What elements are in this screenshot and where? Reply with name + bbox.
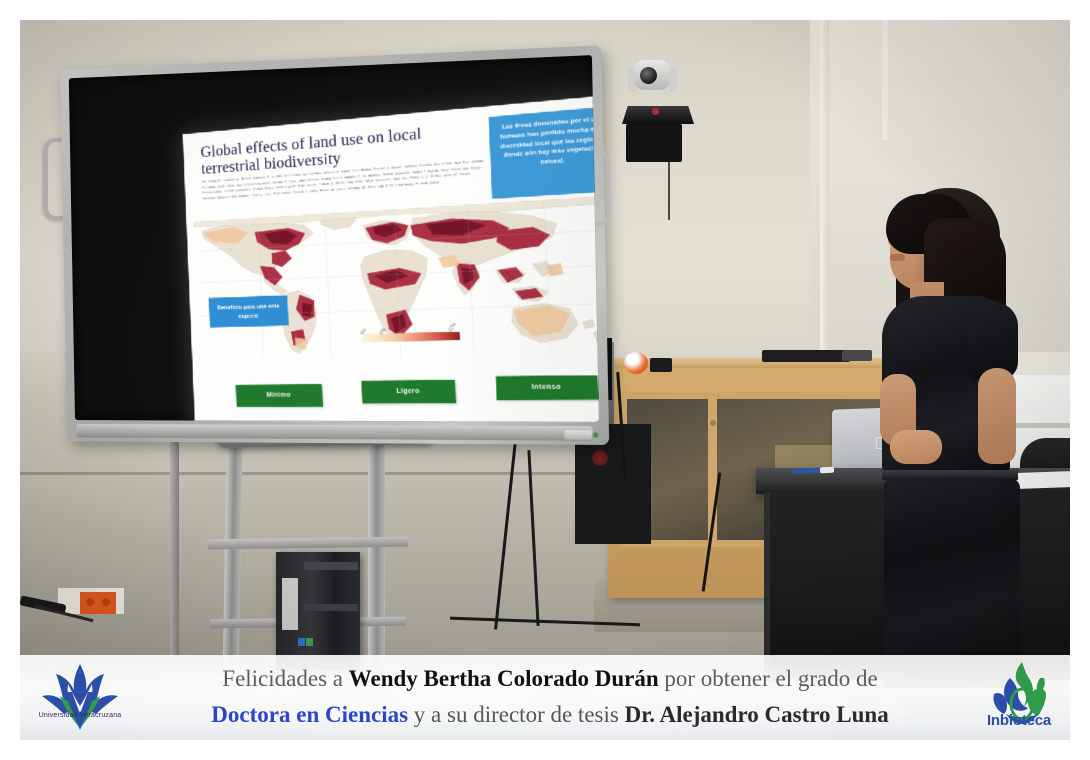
outlet-socket-left[interactable]: [86, 598, 94, 606]
pc-power-led: [298, 638, 305, 646]
pc-spec-label: [282, 578, 298, 630]
outlet-socket-right[interactable]: [102, 598, 110, 606]
desktop-pc-tower[interactable]: [276, 552, 360, 670]
wall-corner-highlight: [882, 20, 888, 140]
power-adapter: [650, 358, 672, 372]
marker-pen-cap: [820, 467, 834, 474]
legend-button-ligero[interactable]: Ligero: [361, 380, 456, 404]
slide-benefit-box: Beneficio para una sola especie: [209, 295, 289, 328]
pc-front-panel: [304, 604, 358, 611]
inbioteca-caption: Inbioteca: [966, 712, 1072, 729]
presenter: [868, 178, 1068, 678]
slide-callout-box: Las áreas dominadas por el ser humano ha…: [488, 106, 599, 199]
decorative-ball: [624, 352, 648, 374]
presentation-slide[interactable]: Global effects of land use on local terr…: [183, 93, 599, 422]
board-brand-logo: [564, 430, 592, 439]
congratulations-banner: Felicidades a Wendy Bertha Colorado Durá…: [20, 655, 1070, 740]
board-bezel: Global effects of land use on local terr…: [60, 45, 609, 445]
event-photograph: Global effects of land use on local terr…: [20, 20, 1070, 740]
banner-line1-suffix: por obtener el grado de: [659, 666, 878, 691]
board-pen-tray[interactable]: [76, 424, 593, 441]
universidad-veracruzana-caption: Universidad Veracruzana: [20, 712, 140, 719]
banner-message: Felicidades a Wendy Bertha Colorado Durá…: [140, 661, 960, 733]
legend-button-minimo[interactable]: Mínimo: [236, 384, 323, 407]
presenter-hands: [890, 430, 942, 464]
pc-optical-drive[interactable]: [304, 562, 358, 570]
banner-line-2: Doctora en Ciencias y a su director de t…: [140, 697, 960, 733]
poster-page: Global effects of land use on local terr…: [0, 0, 1090, 760]
slide-legend-buttons: Mínimo Ligero Intenso: [214, 375, 599, 405]
banner-line-1: Felicidades a Wendy Bertha Colorado Durá…: [140, 661, 960, 697]
board-display-surface[interactable]: Global effects of land use on local terr…: [69, 55, 599, 422]
banner-prefix: Felicidades a: [222, 666, 348, 691]
microphone-wall-mount: [626, 124, 682, 162]
cabinet-knob[interactable]: [710, 420, 716, 426]
presenter-arm-right: [978, 368, 1016, 464]
universidad-veracruzana-logo-icon: [34, 662, 126, 742]
interactive-whiteboard[interactable]: Global effects of land use on local terr…: [40, 42, 600, 442]
banner-advisor-name: Dr. Alejandro Castro Luna: [625, 702, 889, 727]
banner-honoree-name: Wendy Bertha Colorado Durán: [349, 666, 659, 691]
cart-leg-rear: [170, 418, 179, 658]
board-power-led: [593, 432, 598, 437]
pc-activity-led: [306, 638, 313, 646]
banner-line2-mid: y a su director de tesis: [408, 702, 625, 727]
keyboard[interactable]: [762, 350, 850, 362]
microphone-status-led: [652, 108, 659, 115]
equipment-logo-icon: [592, 450, 608, 466]
presenter-mouth: [890, 254, 905, 261]
banner-degree: Doctora en Ciencias: [211, 702, 408, 727]
legend-button-intenso[interactable]: Intenso: [496, 375, 599, 400]
camera-lens-icon: [640, 67, 657, 84]
microphone-cable: [668, 162, 670, 220]
